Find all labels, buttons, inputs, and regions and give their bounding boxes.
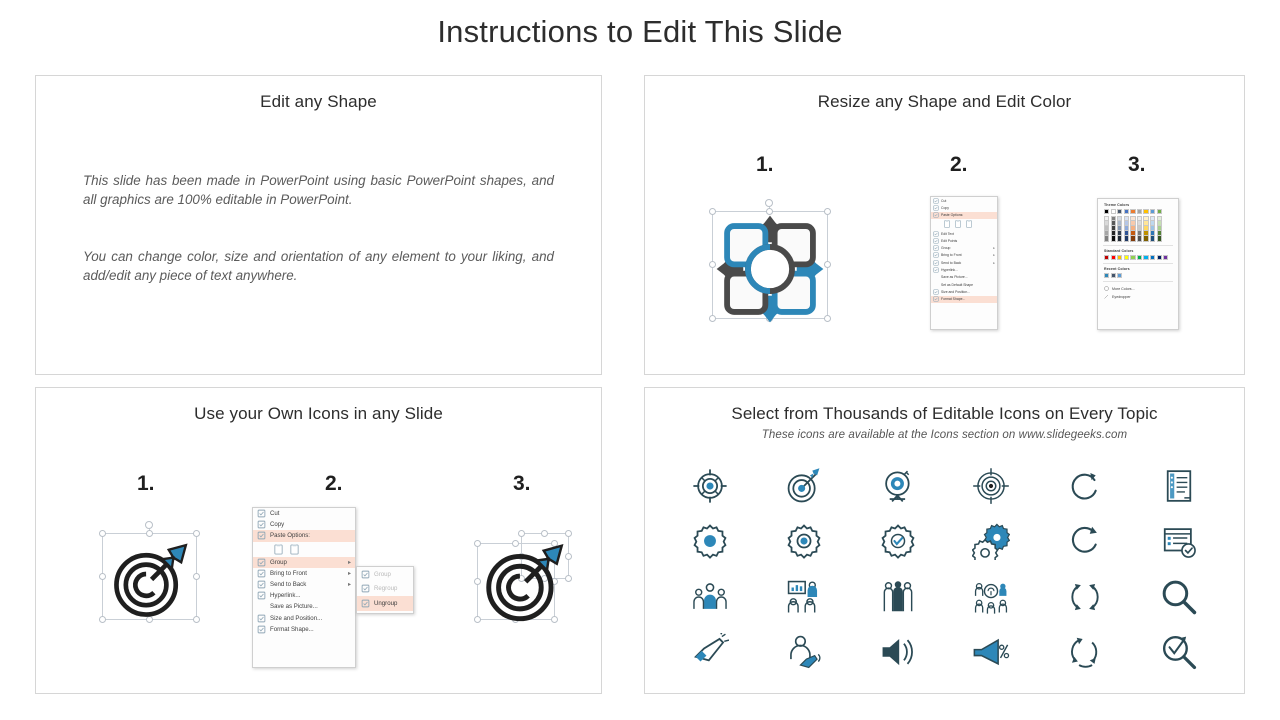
paste-options-row[interactable] — [253, 542, 355, 557]
icon-cell[interactable] — [757, 569, 851, 625]
group-icon — [361, 599, 370, 608]
theme-shade-swatch[interactable] — [1137, 236, 1142, 241]
own-icons-step-number-3: 3. — [513, 472, 531, 496]
crosshair-target-icon — [972, 467, 1010, 505]
front-icon — [257, 569, 266, 578]
theme-swatch[interactable] — [1157, 209, 1162, 214]
menu-item[interactable]: Cut — [253, 508, 355, 519]
paste-option-icon[interactable] — [273, 544, 284, 555]
scissors-icon — [933, 198, 939, 204]
standard-colors-label: Standard Colors — [1104, 249, 1174, 253]
icon-cell[interactable] — [1038, 458, 1132, 514]
selection-handle-nw[interactable] — [99, 530, 106, 537]
team-standing-icon — [879, 578, 917, 616]
menu-item-label: Bring to Front — [941, 253, 991, 257]
rotation-handle[interactable] — [765, 199, 773, 207]
menu-item-label: Paste Options: — [270, 532, 351, 539]
icon-cell[interactable] — [1132, 625, 1226, 681]
theme-swatch[interactable] — [1111, 209, 1116, 214]
magnifier-check-icon — [1160, 633, 1198, 671]
menu-item-label: Copy — [941, 206, 995, 210]
menu-item[interactable]: Size and Position... — [253, 613, 355, 624]
icon-cell[interactable] — [945, 458, 1039, 514]
theme-colors-label: Theme Colors — [1104, 203, 1174, 207]
megaphone-icon — [691, 633, 729, 671]
selection-handle-sw[interactable] — [474, 616, 481, 623]
paste-icon — [933, 212, 939, 218]
theme-shade-swatch[interactable] — [1143, 236, 1148, 241]
size-icon — [257, 614, 266, 623]
divider — [1103, 263, 1173, 264]
chevron-right-icon: ▸ — [348, 570, 351, 577]
theme-swatch[interactable] — [1117, 209, 1122, 214]
submenu-item[interactable]: Regroup — [357, 582, 413, 597]
icon-cell[interactable] — [945, 569, 1039, 625]
chevron-right-icon: ▸ — [993, 246, 995, 250]
menu-item-label: Send to Back — [941, 261, 991, 265]
sync-arrows-icon — [1066, 578, 1104, 616]
menu-item-label: Edit Text — [941, 232, 995, 236]
menu-item[interactable]: Edit Text — [931, 230, 997, 237]
theme-shade-column — [1104, 216, 1109, 242]
group-icon — [257, 558, 266, 567]
divider — [1103, 245, 1173, 246]
eyedropper-item[interactable]: Eyedropper — [1102, 293, 1174, 301]
menu-item-label: Bring to Front — [270, 570, 344, 577]
icon-cell[interactable] — [851, 569, 945, 625]
dartboard-arrow-icon — [785, 467, 823, 505]
icon-cell[interactable] — [757, 514, 851, 570]
dart-handle-e[interactable] — [565, 553, 572, 560]
group-submenu-items: GroupRegroupUngroup — [357, 567, 413, 611]
menu-item-label: Group — [270, 559, 344, 566]
paste-icon — [257, 531, 266, 540]
copy-icon — [933, 205, 939, 211]
refresh-arrow-icon — [1066, 467, 1104, 505]
menu-item-label: Cut — [941, 199, 995, 203]
menu-item-label: Size and Position... — [941, 290, 995, 294]
dart-handle-n[interactable] — [541, 530, 548, 537]
more-colors-item[interactable]: More Colors... — [1102, 285, 1174, 293]
icon-cell[interactable] — [851, 458, 945, 514]
icon-cell[interactable] — [851, 625, 945, 681]
theme-shade-column — [1130, 216, 1135, 242]
edit-shape-paragraph-1: This slide has been made in PowerPoint u… — [83, 171, 554, 209]
menu-item[interactable]: Group▸ — [931, 244, 997, 251]
selection-handle-e[interactable] — [193, 573, 200, 580]
checklist-approved-icon — [1160, 522, 1198, 560]
gears-double-icon — [972, 522, 1010, 560]
panel-subheading: These icons are available at the Icons s… — [645, 429, 1244, 441]
menu-item[interactable]: Group▸ — [253, 557, 355, 568]
paste-option-icon[interactable] — [289, 544, 300, 555]
checklist-document-icon — [1160, 467, 1198, 505]
theme-shade-swatch[interactable] — [1117, 236, 1122, 241]
standard-swatch[interactable] — [1163, 255, 1168, 260]
menu-item[interactable]: Hyperlink... — [931, 266, 997, 273]
dart-handle-se[interactable] — [565, 575, 572, 582]
panel-heading: Edit any Shape — [36, 76, 601, 112]
menu-item[interactable]: Format Shape... — [931, 296, 997, 303]
person-announce-icon — [785, 633, 823, 671]
own-icons-step-number-1: 1. — [137, 472, 155, 496]
menu-item[interactable]: Save as Picture... — [253, 601, 355, 612]
own-icons-step-number-2: 2. — [325, 472, 343, 496]
recent-swatch[interactable] — [1111, 273, 1116, 278]
panel-heading: Use your Own Icons in any Slide — [36, 388, 601, 424]
theme-shade-column — [1150, 216, 1155, 242]
chevron-right-icon: ▸ — [993, 261, 995, 265]
submenu-item[interactable]: Ungroup — [357, 596, 413, 611]
panel-edit-any-shape: Edit any Shape This slide has been made … — [35, 75, 602, 375]
divider — [1103, 281, 1173, 282]
selection-handle-sw[interactable] — [99, 616, 106, 623]
gear-filled-icon — [691, 522, 729, 560]
step-number-1: 1. — [756, 153, 774, 177]
theme-shade-column — [1137, 216, 1142, 242]
menu-item[interactable]: Save as Picture... — [931, 274, 997, 281]
chevron-right-icon: ▸ — [993, 253, 995, 257]
icon-cell[interactable] — [1132, 458, 1226, 514]
context-menu-group[interactable]: CutCopyPaste Options:Group▸Bring to Fron… — [252, 507, 356, 668]
recent-swatch[interactable] — [1104, 273, 1109, 278]
standard-swatch[interactable] — [1157, 255, 1162, 260]
menu-item[interactable]: Size and Position... — [931, 288, 997, 295]
standard-swatch[interactable] — [1104, 255, 1109, 260]
target-stand-icon — [879, 467, 917, 505]
menu-item[interactable]: Send to Back▸ — [931, 259, 997, 266]
menu-item-label: Cut — [270, 510, 351, 517]
eyedropper-icon — [1104, 294, 1109, 300]
standard-swatch[interactable] — [1137, 255, 1142, 260]
meeting-group-icon — [972, 578, 1010, 616]
icon-cell[interactable] — [663, 569, 757, 625]
icon-cell[interactable] — [851, 514, 945, 570]
context-menu-group-items: CutCopyPaste Options:Group▸Bring to Fron… — [253, 508, 355, 635]
standard-swatch[interactable] — [1150, 255, 1155, 260]
refresh-circle-icon — [1066, 522, 1104, 560]
paste-option-icon[interactable] — [943, 220, 951, 228]
menu-item[interactable]: Bring to Front▸ — [253, 568, 355, 579]
recent-colors-row[interactable] — [1104, 273, 1174, 278]
group-icon — [933, 245, 939, 251]
chevron-right-icon: ▸ — [348, 581, 351, 588]
context-menu-small[interactable]: CutCopyPaste Options:Edit TextEdit Point… — [930, 196, 998, 330]
submenu-item-label: Group — [374, 571, 409, 578]
menu-item[interactable]: Format Shape... — [253, 624, 355, 635]
link-icon — [933, 267, 939, 273]
theme-shade-swatch[interactable] — [1111, 236, 1116, 241]
menu-item-label: Copy — [270, 521, 351, 528]
paste-options-row[interactable] — [931, 219, 997, 230]
panel-heading: Select from Thousands of Editable Icons … — [645, 388, 1244, 424]
icon-cell[interactable] — [1038, 625, 1132, 681]
menu-item[interactable]: Copy — [931, 204, 997, 211]
dart-handle-nw[interactable] — [518, 530, 525, 537]
paste-option-icon[interactable] — [965, 220, 973, 228]
icon-cell[interactable] — [945, 625, 1039, 681]
people-group-icon — [691, 578, 729, 616]
icon-library-grid — [663, 458, 1226, 680]
menu-item-label: Hyperlink... — [941, 268, 995, 272]
recent-colors-label: Recent Colors — [1104, 267, 1174, 271]
selection-handle-nw[interactable] — [474, 540, 481, 547]
theme-swatch[interactable] — [1137, 209, 1142, 214]
link-icon — [257, 591, 266, 600]
menu-item[interactable]: Edit Points — [931, 237, 997, 244]
cycle-arrows-icon — [1066, 633, 1104, 671]
step-number-2: 2. — [950, 153, 968, 177]
target-dart-artwork-grouped[interactable] — [102, 525, 197, 620]
edit-points-icon — [933, 238, 939, 244]
menu-item-label: Paste Options: — [941, 213, 995, 217]
icon-cell[interactable] — [663, 625, 757, 681]
gear-dot-icon — [785, 522, 823, 560]
menu-item[interactable]: Copy — [253, 519, 355, 530]
color-picker-panel[interactable]: Theme Colors Standard Colors Recent Colo… — [1097, 198, 1179, 330]
icon-cell[interactable] — [1132, 569, 1226, 625]
icon-cell[interactable] — [757, 625, 851, 681]
megaphone-percent-icon — [972, 633, 1010, 671]
format-icon — [257, 625, 266, 634]
selection-handle-se[interactable] — [193, 616, 200, 623]
theme-shade-swatch[interactable] — [1157, 236, 1162, 241]
theme-colors-shades[interactable] — [1104, 216, 1174, 242]
menu-item[interactable]: Bring to Front▸ — [931, 252, 997, 259]
rotation-handle[interactable] — [145, 521, 153, 529]
recent-swatch[interactable] — [1117, 273, 1122, 278]
step-number-3: 3. — [1128, 153, 1146, 177]
submenu-item-label: Ungroup — [374, 600, 409, 607]
menu-item-label: Group — [941, 246, 991, 250]
menu-item-label: Set as Default Shape — [941, 283, 995, 287]
group-submenu[interactable]: GroupRegroupUngroup — [356, 566, 414, 614]
standard-colors-row[interactable] — [1104, 255, 1174, 260]
selection-handle-w[interactable] — [474, 578, 481, 585]
chevron-right-icon: ▸ — [348, 559, 351, 566]
submenu-item[interactable]: Group — [357, 567, 413, 582]
group-icon — [361, 584, 370, 593]
selection-handle-n[interactable] — [146, 530, 153, 537]
front-icon — [933, 252, 939, 258]
icon-cell[interactable] — [1038, 569, 1132, 625]
speaker-icon — [879, 633, 917, 671]
dartboard-arrow-icon — [483, 540, 565, 622]
back-icon — [257, 580, 266, 589]
group-icon — [361, 570, 370, 579]
menu-icon-spacer — [933, 282, 939, 288]
menu-icon-spacer — [933, 274, 939, 280]
scissors-icon — [257, 509, 266, 518]
target-dart-artwork-ungrouped[interactable] — [477, 525, 572, 620]
paste-option-icon[interactable] — [954, 220, 962, 228]
theme-shade-column — [1157, 216, 1162, 242]
theme-shade-swatch[interactable] — [1104, 236, 1109, 241]
menu-item[interactable]: Hyperlink... — [253, 590, 355, 601]
selection-handle-w[interactable] — [99, 573, 106, 580]
edit-shape-paragraph-2: You can change color, size and orientati… — [83, 247, 554, 285]
theme-shade-column — [1117, 216, 1122, 242]
icon-cell[interactable] — [663, 458, 757, 514]
theme-colors-top-row[interactable] — [1104, 209, 1174, 214]
icon-cell[interactable] — [757, 458, 851, 514]
submenu-item-label: Regroup — [374, 585, 409, 592]
size-icon — [933, 289, 939, 295]
theme-swatch[interactable] — [1143, 209, 1148, 214]
gear-check-icon — [879, 522, 917, 560]
theme-swatch[interactable] — [1124, 209, 1129, 214]
menu-item-label: Save as Picture... — [941, 275, 995, 279]
menu-item[interactable]: Paste Options: — [931, 212, 997, 219]
target-crosshair-icon — [691, 467, 729, 505]
menu-item-label: Send to Back — [270, 581, 344, 588]
menu-item-label: Edit Points — [941, 239, 995, 243]
menu-item-label: Format Shape... — [270, 626, 351, 633]
back-icon — [933, 260, 939, 266]
theme-swatch[interactable] — [1130, 209, 1135, 214]
theme-shade-column — [1143, 216, 1148, 242]
eyedropper-label: Eyedropper — [1112, 295, 1131, 299]
context-menu-small-items: CutCopyPaste Options:Edit TextEdit Point… — [931, 197, 997, 303]
format-icon — [933, 296, 939, 302]
menu-item[interactable]: Set as Default Shape — [931, 281, 997, 288]
standard-swatch[interactable] — [1124, 255, 1129, 260]
theme-shade-column — [1124, 216, 1129, 242]
menu-item-label: Format Shape... — [941, 297, 995, 301]
theme-shade-swatch[interactable] — [1124, 236, 1129, 241]
slide-root: Instructions to Edit This Slide Edit any… — [0, 0, 1280, 720]
palette-icon — [1104, 286, 1109, 292]
menu-item-label: Size and Position... — [270, 615, 351, 622]
page-title: Instructions to Edit This Slide — [0, 14, 1280, 50]
menu-item-label: Hyperlink... — [270, 592, 351, 599]
theme-shade-column — [1111, 216, 1116, 242]
standard-swatch[interactable] — [1111, 255, 1116, 260]
theme-shade-swatch[interactable] — [1150, 236, 1155, 241]
menu-item-label: Save as Picture... — [270, 603, 351, 610]
resize-arrows-icon — [712, 211, 828, 327]
standard-swatch[interactable] — [1117, 255, 1122, 260]
selection-handle-ne[interactable] — [193, 530, 200, 537]
resize-shape-artwork[interactable] — [712, 203, 828, 319]
magnifier-icon — [1160, 578, 1198, 616]
panel-heading: Resize any Shape and Edit Color — [645, 76, 1244, 112]
standard-swatch[interactable] — [1130, 255, 1135, 260]
icon-cell[interactable] — [1038, 514, 1132, 570]
dartboard-arrow-icon — [111, 542, 189, 620]
menu-item[interactable]: Cut — [931, 197, 997, 204]
more-colors-label: More Colors... — [1112, 287, 1135, 291]
icon-cell[interactable] — [663, 514, 757, 570]
menu-item[interactable]: Paste Options: — [253, 530, 355, 541]
copy-icon — [257, 520, 266, 529]
dart-handle-ne[interactable] — [565, 530, 572, 537]
edit-text-icon — [933, 231, 939, 237]
menu-icon-spacer — [257, 602, 266, 611]
theme-shade-swatch[interactable] — [1130, 236, 1135, 241]
theme-swatch[interactable] — [1150, 209, 1155, 214]
menu-item[interactable]: Send to Back▸ — [253, 579, 355, 590]
presentation-team-icon — [785, 578, 823, 616]
icon-cell[interactable] — [1132, 514, 1226, 570]
standard-swatch[interactable] — [1143, 255, 1148, 260]
theme-swatch[interactable] — [1104, 209, 1109, 214]
icon-cell[interactable] — [945, 514, 1039, 570]
